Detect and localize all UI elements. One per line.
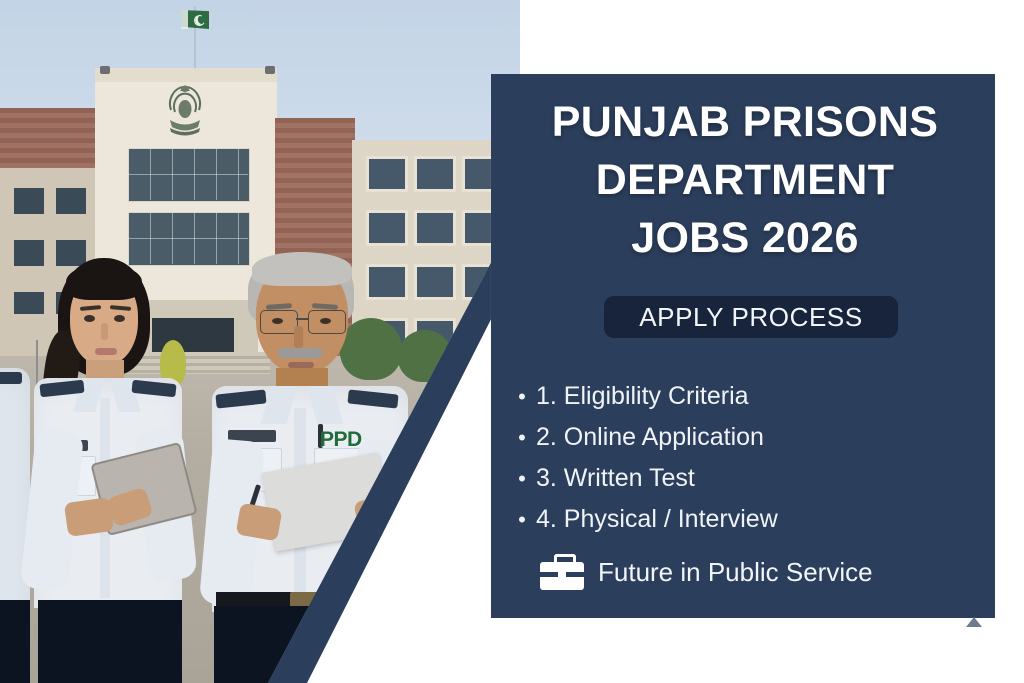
card-bottom-notch <box>966 617 982 627</box>
list-item: • 2. Online Application <box>508 417 978 458</box>
briefcase-icon <box>540 554 584 590</box>
photo-scene: PPD <box>0 0 520 683</box>
window <box>56 240 86 266</box>
list-item-label: 3. Written Test <box>536 458 695 499</box>
bullet-icon: • <box>508 417 536 458</box>
ppd-pocket-label: PPD <box>320 428 362 452</box>
department-crest-emblem-icon <box>162 80 208 138</box>
footer-tagline: Future in Public Service <box>540 554 873 590</box>
window <box>56 188 86 214</box>
window <box>14 240 44 266</box>
officers-photo: PPD <box>0 0 520 683</box>
list-item-label: 1. Eligibility Criteria <box>536 376 749 417</box>
bullet-icon: • <box>508 499 536 540</box>
apply-process-badge[interactable]: APPLY PROCESS <box>604 296 898 338</box>
window <box>414 264 456 300</box>
window <box>414 156 456 192</box>
bullet-icon: • <box>508 458 536 499</box>
list-item: • 4. Physical / Interview <box>508 499 978 540</box>
apply-process-badge-label: APPLY PROCESS <box>639 302 863 333</box>
footer-tagline-label: Future in Public Service <box>598 557 873 588</box>
list-item: • 1. Eligibility Criteria <box>508 376 978 417</box>
title-line-1: PUNJAB PRISONS <box>505 93 985 151</box>
window <box>14 292 44 314</box>
poster-root: PPD PUNJAB PR <box>0 0 1024 683</box>
apply-steps-list: • 1. Eligibility Criteria • 2. Online Ap… <box>508 376 978 540</box>
title-line-2: DEPARTMENT <box>505 151 985 209</box>
flag-white-band <box>181 10 188 29</box>
bullet-icon: • <box>508 376 536 417</box>
window <box>414 210 456 246</box>
tree <box>398 330 452 382</box>
page-title: PUNJAB PRISONS DEPARTMENT JOBS 2026 <box>505 93 985 267</box>
glass-mullions <box>128 148 248 200</box>
list-item: • 3. Written Test <box>508 458 978 499</box>
glass-mullions <box>128 212 248 264</box>
roof-lamp <box>100 66 110 74</box>
window <box>366 264 408 300</box>
roof-lamp <box>265 66 275 74</box>
window <box>14 188 44 214</box>
window <box>366 210 408 246</box>
title-line-3: JOBS 2026 <box>505 209 985 267</box>
window <box>366 156 408 192</box>
list-item-label: 2. Online Application <box>536 417 764 458</box>
list-item-label: 4. Physical / Interview <box>536 499 778 540</box>
tree <box>340 318 402 380</box>
